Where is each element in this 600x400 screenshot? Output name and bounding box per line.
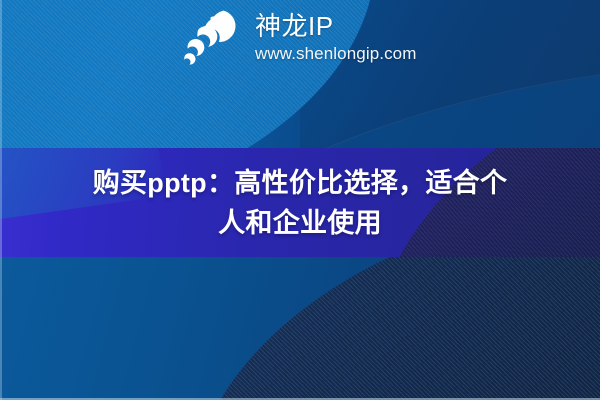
title-text-block: 购买pptp：高性价比选择，适合个 人和企业使用	[0, 148, 600, 257]
brand-name-cn: 神龙IP	[255, 13, 417, 39]
brand-website-url: www.shenlongip.com	[255, 45, 417, 62]
title-banner: 购买pptp：高性价比选择，适合个 人和企业使用	[0, 148, 600, 257]
bottom-background	[0, 257, 600, 400]
brand-logo: 神龙IP www.shenlongip.com	[183, 6, 433, 68]
brand-wordmark: 神龙IP www.shenlongip.com	[255, 13, 417, 62]
title-line-1: 购买pptp：高性价比选择，适合个	[93, 163, 508, 203]
dragon-logo-icon	[183, 8, 245, 66]
title-line-2: 人和企业使用	[218, 203, 382, 243]
left-edge-line	[0, 0, 2, 400]
promo-banner-image: 神龙IP www.shenlongip.com 购买pptp：高性价比选择，适合…	[0, 0, 600, 400]
